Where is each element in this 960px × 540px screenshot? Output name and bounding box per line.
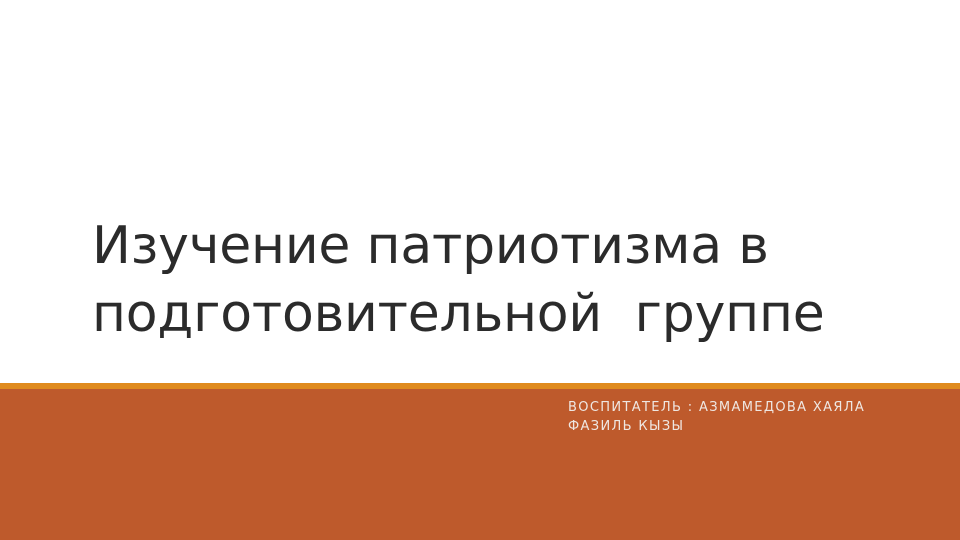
presentation-slide: Изучение патриотизма в подготовительной …: [0, 0, 960, 540]
slide-subtitle: ВОСПИТАТЕЛЬ : АЗМАМЕДОВА ХАЯЛА ФАЗИЛЬ КЫ…: [568, 398, 908, 436]
subtitle-placeholder[interactable]: ВОСПИТАТЕЛЬ : АЗМАМЕДОВА ХАЯЛА ФАЗИЛЬ КЫ…: [568, 398, 908, 436]
title-placeholder[interactable]: Изучение патриотизма в подготовительной …: [92, 212, 882, 348]
slide-title: Изучение патриотизма в подготовительной …: [92, 212, 882, 348]
